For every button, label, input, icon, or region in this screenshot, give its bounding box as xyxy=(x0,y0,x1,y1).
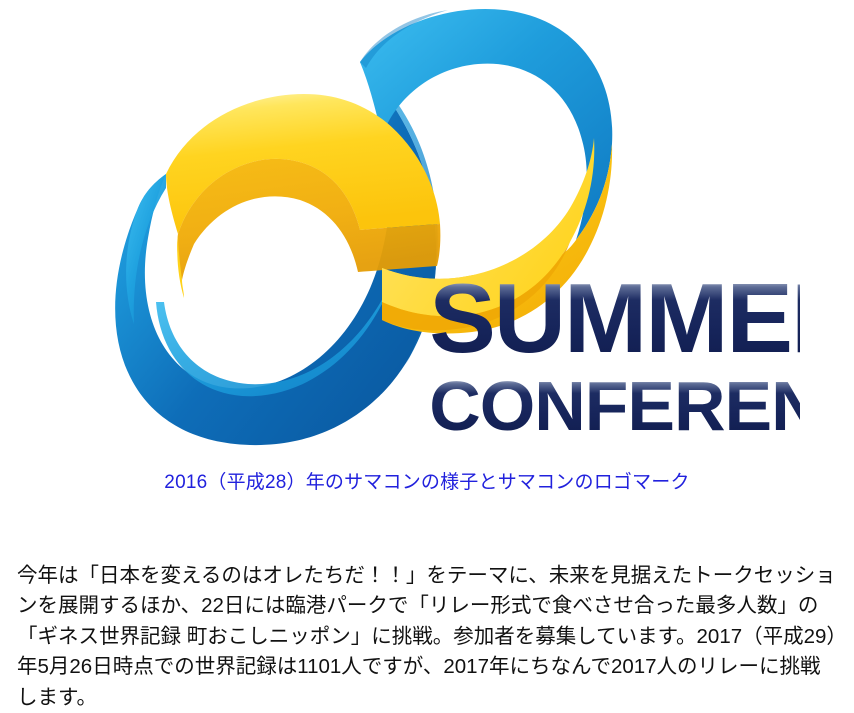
figure-caption: 2016（平成28）年のサマコンの様子とサマコンのロゴマーク xyxy=(0,470,854,496)
logo-wordmark: SUMMER CONFERENCE xyxy=(429,263,800,445)
wordmark-conference: CONFERENCE xyxy=(429,367,800,445)
article-paragraph: 今年は「日本を変えるのはオレたちだ！！」をテーマに、未来を見据えたトークセッショ… xyxy=(17,561,839,713)
logo-mark-svg: SUMMER CONFERENCE xyxy=(60,2,800,450)
summer-conference-logo: SUMMER CONFERENCE xyxy=(60,2,800,450)
page-root: SUMMER CONFERENCE 2016（平成28）年のサマコンの様子とサマ… xyxy=(0,0,854,700)
wordmark-summer: SUMMER xyxy=(429,263,800,373)
logo-figure: SUMMER CONFERENCE xyxy=(0,0,854,462)
